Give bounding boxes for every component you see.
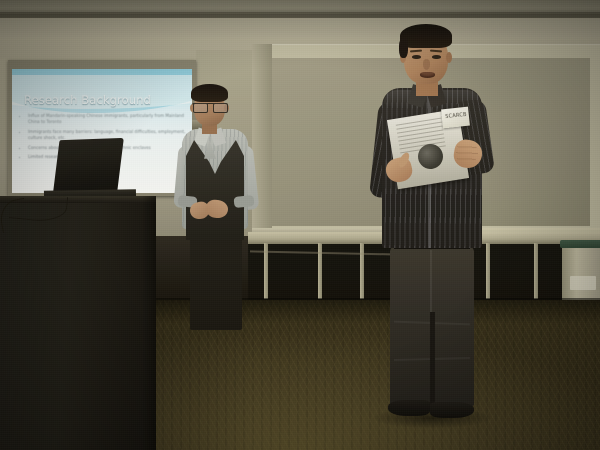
right-speaker-ear-right <box>446 52 452 63</box>
right-speaker-eye-left <box>412 55 421 59</box>
podium-front-panel <box>0 203 156 450</box>
right-speaker-mouth <box>420 72 435 78</box>
left-speaker-hair <box>191 84 228 102</box>
table-leg <box>534 243 538 299</box>
speaker-right: SCARCB <box>368 22 496 432</box>
right-speaker-leg-gap <box>430 312 435 406</box>
eyeglasses-lens-right <box>213 103 228 113</box>
eyeglasses-lens-left <box>193 103 208 113</box>
right-speaker-eye-right <box>432 55 441 59</box>
podium-right-edge <box>142 196 156 450</box>
left-speaker-trousers <box>190 234 242 330</box>
speaker-left <box>168 84 264 344</box>
right-speaker-shoe-right <box>430 402 474 418</box>
recycling-bin-label <box>570 276 596 290</box>
right-speaker-shoe-left <box>388 400 430 416</box>
right-speaker-nose <box>423 59 430 70</box>
presentation-photograph: Research Background Influx of Mandarin-s… <box>0 0 600 450</box>
recycling-bin-lid <box>560 240 600 248</box>
table-leg <box>360 243 364 299</box>
left-speaker-cuff-right <box>233 195 254 208</box>
right-speaker-hair-side <box>399 38 408 58</box>
